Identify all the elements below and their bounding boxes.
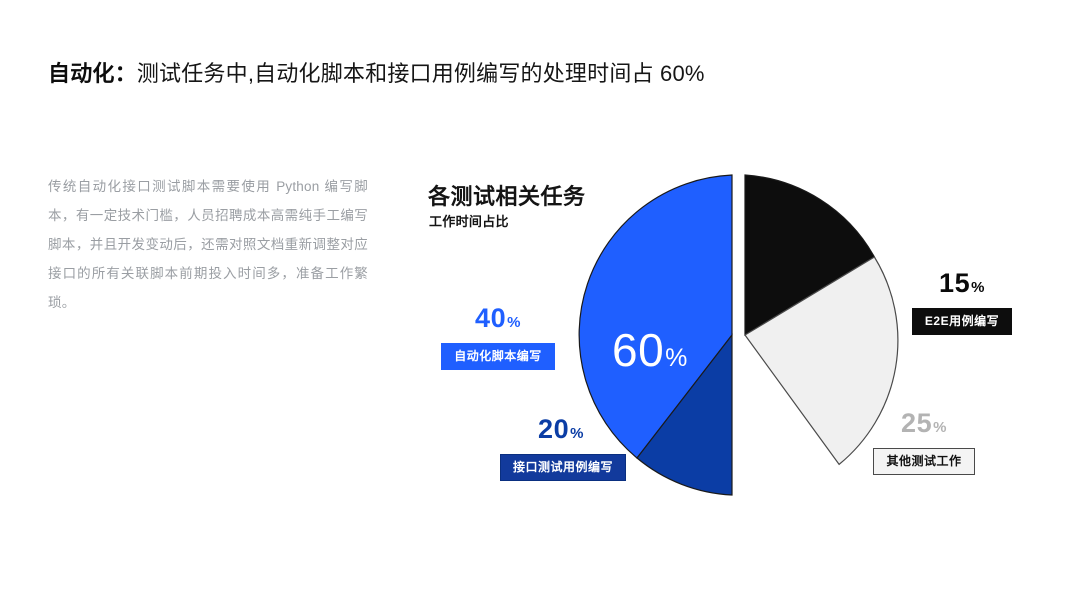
callout-automation[interactable]: 40% 自动化脚本编写 [438, 305, 558, 370]
badge-automation[interactable]: 自动化脚本编写 [441, 343, 555, 370]
callout-e2e-number: 15 [939, 268, 970, 298]
callout-automation-value: 40% [438, 305, 558, 332]
page-title-strong: 自动化： [48, 61, 137, 86]
callout-automation-percent-sign: % [507, 314, 521, 331]
chart-title: 各测试相关任务 [428, 179, 586, 211]
callout-other[interactable]: 25% 其他测试工作 [866, 410, 982, 475]
pie-center-percent-sign: % [665, 344, 688, 372]
callout-other-percent-sign: % [933, 419, 947, 436]
callout-e2e[interactable]: 15% E2E用例编写 [903, 270, 1021, 335]
page-title: 自动化：测试任务中,自动化脚本和接口用例编写的处理时间占 60% [48, 58, 705, 90]
page-title-rest: 测试任务中,自动化脚本和接口用例编写的处理时间占 60% [137, 61, 705, 86]
callout-other-number: 25 [901, 408, 932, 438]
callout-e2e-value: 15% [903, 270, 1021, 297]
badge-e2e[interactable]: E2E用例编写 [912, 308, 1012, 335]
pie-center-number: 60 [612, 324, 664, 376]
badge-other[interactable]: 其他测试工作 [873, 448, 974, 475]
callout-automation-number: 40 [475, 303, 506, 333]
chart-subtitle: 工作时间占比 [429, 211, 509, 230]
badge-api[interactable]: 接口测试用例编写 [500, 454, 626, 481]
callout-api-value: 20% [500, 416, 622, 443]
callout-e2e-percent-sign: % [971, 279, 985, 296]
description-paragraph: 传统自动化接口测试脚本需要使用 Python 编写脚本，有一定技术门槛，人员招聘… [48, 172, 368, 317]
callout-api[interactable]: 20% 接口测试用例编写 [500, 416, 622, 481]
pie-center-value: 60% [612, 327, 688, 373]
callout-api-percent-sign: % [570, 425, 584, 442]
callout-other-value: 25% [866, 410, 982, 437]
callout-api-number: 20 [538, 414, 569, 444]
